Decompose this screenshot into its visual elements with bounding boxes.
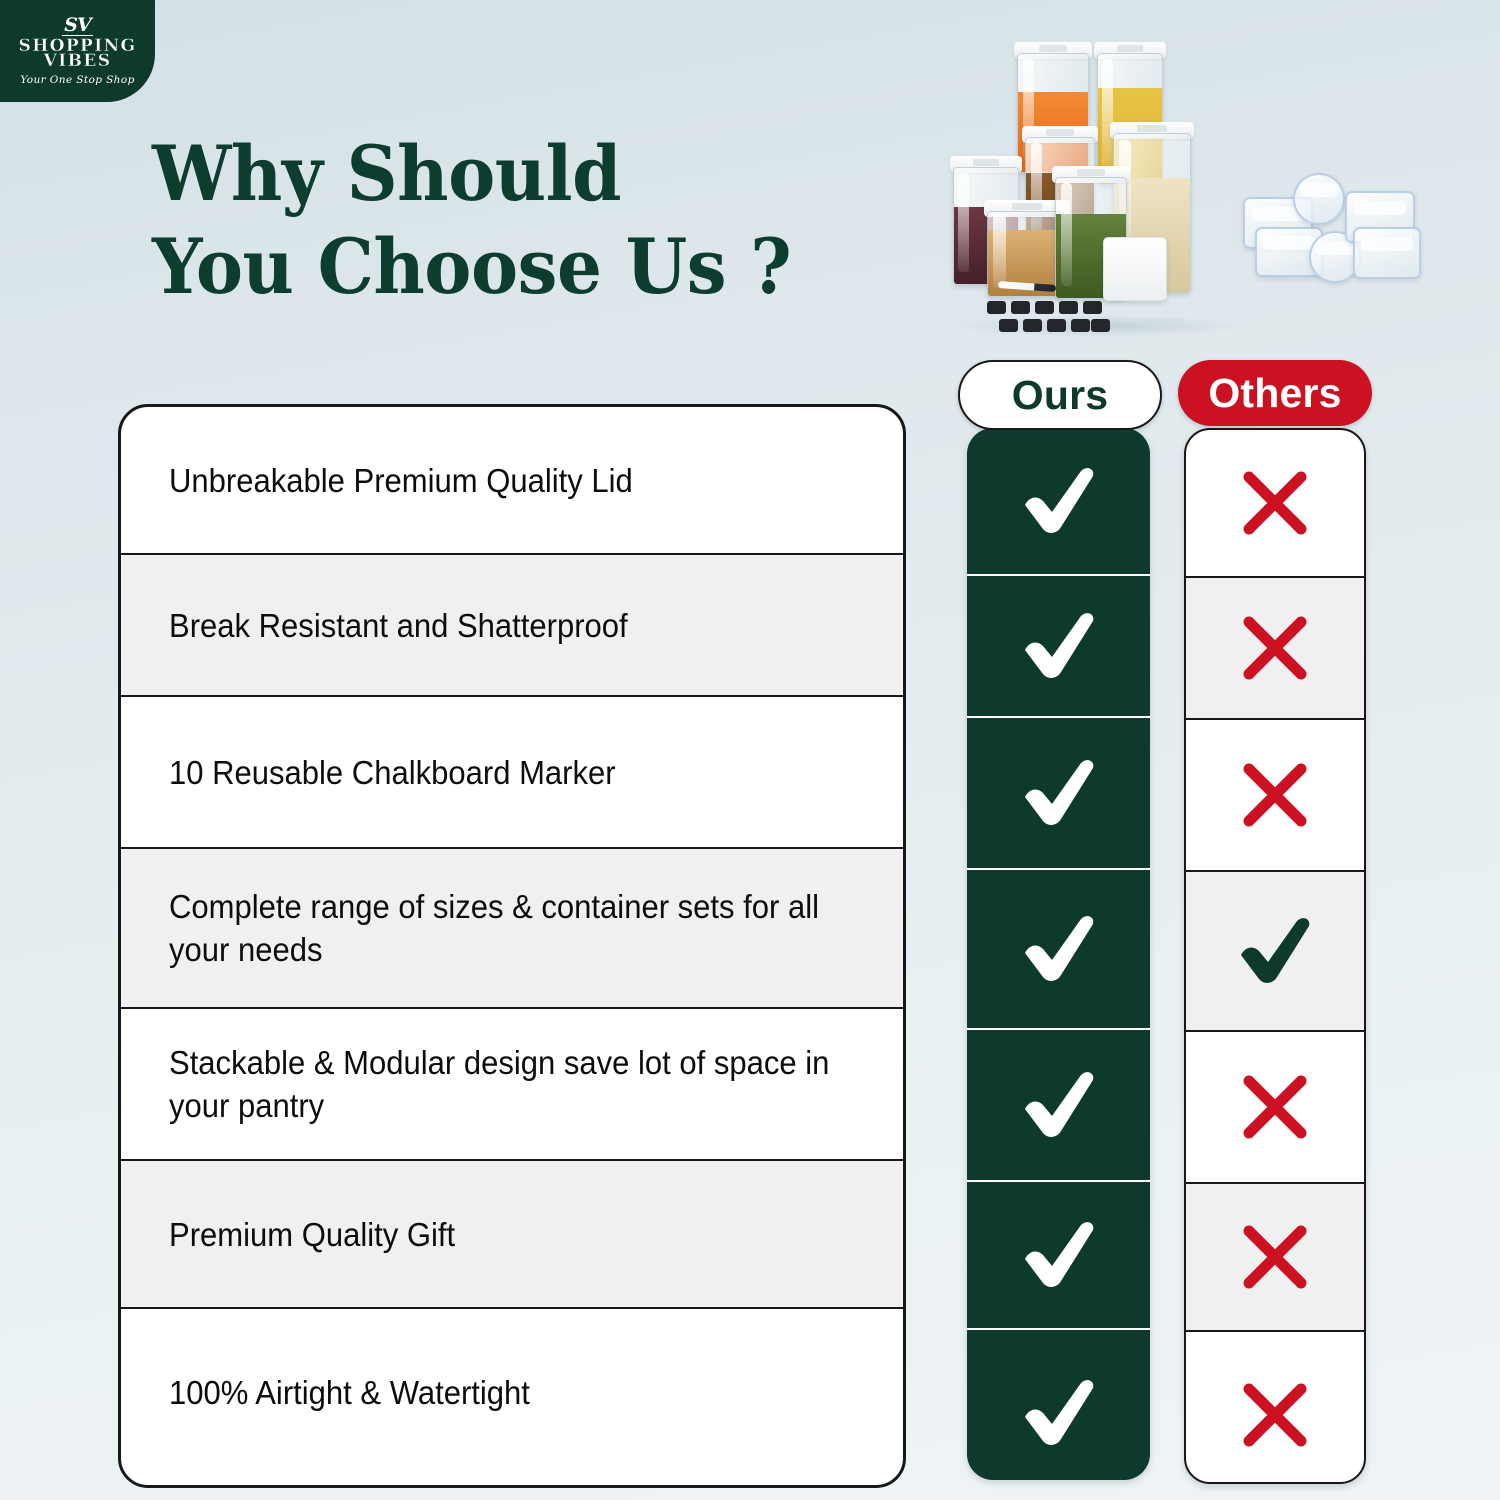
brand-logo-badge: SV SHOPPING VIBES Your One Stop Shop xyxy=(0,0,155,102)
container-lid-loose xyxy=(1103,237,1167,301)
cross-icon xyxy=(1239,1071,1311,1143)
feature-label: Premium Quality Gift xyxy=(169,1213,859,1256)
container-gloss xyxy=(958,173,968,273)
ours-mark-cell xyxy=(967,1182,1150,1330)
feature-label: Unbreakable Premium Quality Lid xyxy=(169,459,859,502)
ours-mark-cell xyxy=(967,428,1150,576)
cross-icon xyxy=(1239,612,1311,684)
feature-row: Unbreakable Premium Quality Lid xyxy=(121,407,903,555)
clip-container-round-1 xyxy=(1293,173,1345,225)
ours-mark-cell xyxy=(967,1330,1150,1480)
check-icon xyxy=(1017,757,1101,829)
container-body xyxy=(1104,238,1166,300)
ours-mark-cell xyxy=(967,718,1150,870)
others-mark-cell xyxy=(1186,1184,1364,1332)
cross-icon xyxy=(1239,1379,1311,1451)
feature-list: Unbreakable Premium Quality LidBreak Res… xyxy=(118,404,906,1488)
feature-row: Stackable & Modular design save lot of s… xyxy=(121,1009,903,1161)
feature-label: Break Resistant and Shatterproof xyxy=(169,604,859,647)
check-icon xyxy=(1017,1069,1101,1141)
feature-row: Complete range of sizes & container sets… xyxy=(121,849,903,1009)
feature-row: 10 Reusable Chalkboard Marker xyxy=(121,697,903,849)
cross-icon xyxy=(1239,1221,1311,1293)
brand-name-line2: VIBES xyxy=(44,54,112,69)
column-header-others: Others xyxy=(1178,360,1372,426)
column-header-ours: Ours xyxy=(958,360,1162,430)
feature-label: 100% Airtight & Watertight xyxy=(169,1371,859,1414)
clip-container-rect-4 xyxy=(1353,227,1421,279)
feature-row: Premium Quality Gift xyxy=(121,1161,903,1309)
cross-icon xyxy=(1239,759,1311,831)
page-title: Why Should You Choose Us ? xyxy=(152,127,840,313)
feature-label: Complete range of sizes & container sets… xyxy=(169,885,859,971)
others-mark-cell xyxy=(1186,578,1364,720)
feature-label: 10 Reusable Chalkboard Marker xyxy=(169,751,859,794)
others-mark-cell xyxy=(1186,1032,1364,1184)
others-mark-cell xyxy=(1186,720,1364,872)
cross-icon xyxy=(1239,467,1311,539)
brand-monogram: SV xyxy=(62,17,92,36)
check-icon xyxy=(1017,610,1101,682)
page-title-line1: Why Should xyxy=(152,127,840,220)
check-icon xyxy=(1017,1219,1101,1291)
others-mark-cell xyxy=(1186,430,1364,578)
chalkboard-label-sheet xyxy=(987,301,1107,345)
others-mark-cell xyxy=(1186,872,1364,1032)
container-gloss xyxy=(1102,59,1112,171)
others-mark-cell xyxy=(1186,1332,1364,1484)
product-image xyxy=(925,15,1485,355)
feature-row: 100% Airtight & Watertight xyxy=(121,1309,903,1475)
ours-column xyxy=(967,428,1150,1480)
feature-row: Break Resistant and Shatterproof xyxy=(121,555,903,697)
ours-mark-cell xyxy=(967,576,1150,718)
feature-label: Stackable & Modular design save lot of s… xyxy=(169,1041,859,1127)
check-icon xyxy=(1017,1377,1101,1449)
check-icon xyxy=(1017,465,1101,537)
container-gloss xyxy=(993,215,1005,287)
check-icon xyxy=(1017,913,1101,985)
ours-mark-cell xyxy=(967,870,1150,1030)
ours-mark-cell xyxy=(967,1030,1150,1182)
page-title-line2: You Choose Us ? xyxy=(152,220,840,313)
brand-tagline: Your One Stop Shop xyxy=(20,74,134,86)
check-icon xyxy=(1233,915,1317,987)
container-gloss xyxy=(1061,183,1072,286)
others-column xyxy=(1184,428,1366,1484)
